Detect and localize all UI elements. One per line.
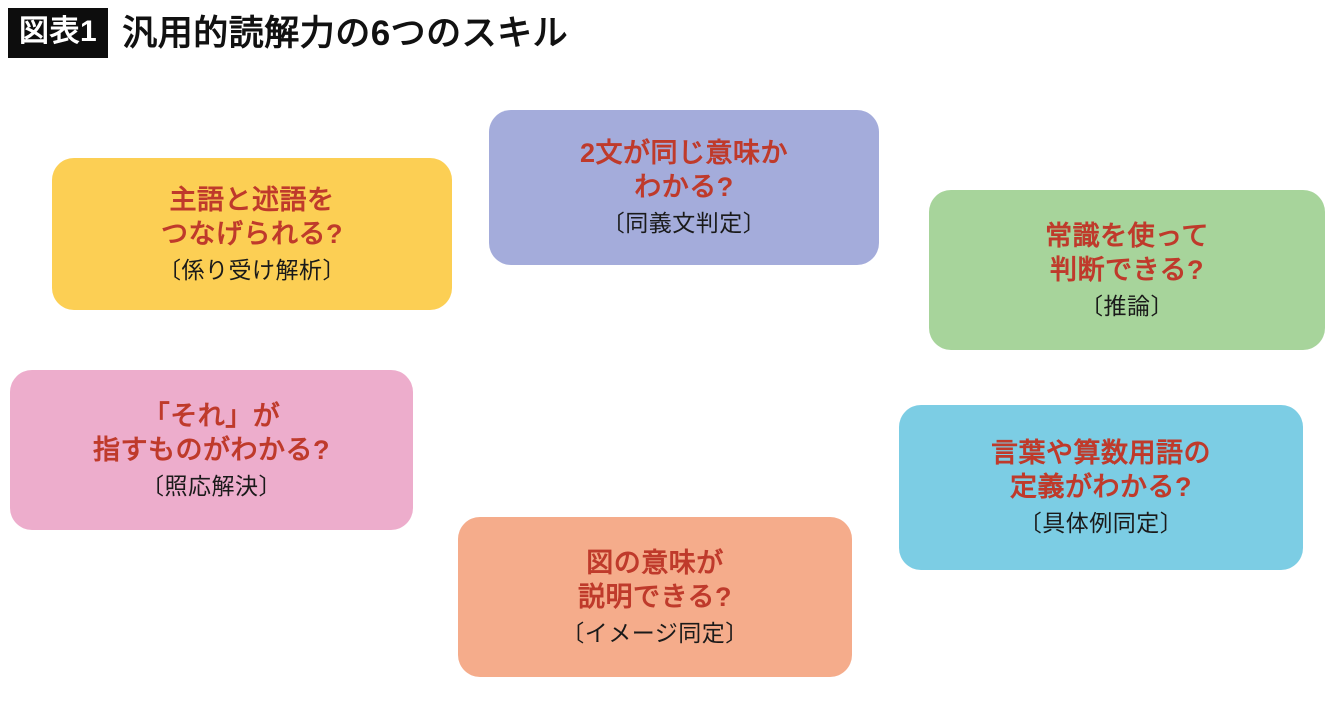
skill-question-line2: 指すものがわかる? xyxy=(93,433,330,467)
skill-card-instance-identification[interactable]: 言葉や算数用語の 定義がわかる? 〔具体例同定〕 xyxy=(899,405,1303,570)
skill-card-dependency-parsing[interactable]: 主語と述語を つなげられる? 〔係り受け解析〕 xyxy=(52,158,452,310)
skill-tag: 〔照応解決〕 xyxy=(141,472,282,502)
skill-question-line1: 常識を使って xyxy=(1045,219,1209,253)
skill-question-line2: 定義がわかる? xyxy=(1010,470,1192,504)
skill-question-line2: つなげられる? xyxy=(161,217,343,251)
skill-question-line1: 「それ」が xyxy=(143,399,281,433)
skill-tag: 〔イメージ同定〕 xyxy=(561,619,749,649)
figure-number-badge: 図表1 xyxy=(8,8,108,58)
skill-tag: 〔推論〕 xyxy=(1080,292,1174,322)
skill-question-line2: 判断できる? xyxy=(1050,253,1204,287)
skill-question-line1: 2文が同じ意味か xyxy=(580,136,788,170)
skill-question-line1: 主語と述語を xyxy=(170,183,335,217)
skill-card-anaphora-resolution[interactable]: 「それ」が 指すものがわかる? 〔照応解決〕 xyxy=(10,370,413,530)
skill-question-line2: 説明できる? xyxy=(578,580,732,614)
skill-tag: 〔同義文判定〕 xyxy=(602,209,767,239)
skill-question-line1: 図の意味が xyxy=(586,546,724,580)
skill-question-line2: わかる? xyxy=(634,170,734,204)
skill-card-image-identification[interactable]: 図の意味が 説明できる? 〔イメージ同定〕 xyxy=(458,517,852,677)
skill-card-paraphrase-judgment[interactable]: 2文が同じ意味か わかる? 〔同義文判定〕 xyxy=(489,110,879,265)
diagram-canvas: 図表1 汎用的読解力の6つのスキル 主語と述語を つなげられる? 〔係り受け解析… xyxy=(0,0,1340,706)
skill-card-inference[interactable]: 常識を使って 判断できる? 〔推論〕 xyxy=(929,190,1325,350)
diagram-header: 図表1 汎用的読解力の6つのスキル xyxy=(8,8,568,58)
skill-tag: 〔係り受け解析〕 xyxy=(158,256,346,286)
page-title: 汎用的読解力の6つのスキル xyxy=(122,16,568,51)
skill-question-line1: 言葉や算数用語の xyxy=(991,436,1211,470)
skill-tag: 〔具体例同定〕 xyxy=(1019,509,1184,539)
